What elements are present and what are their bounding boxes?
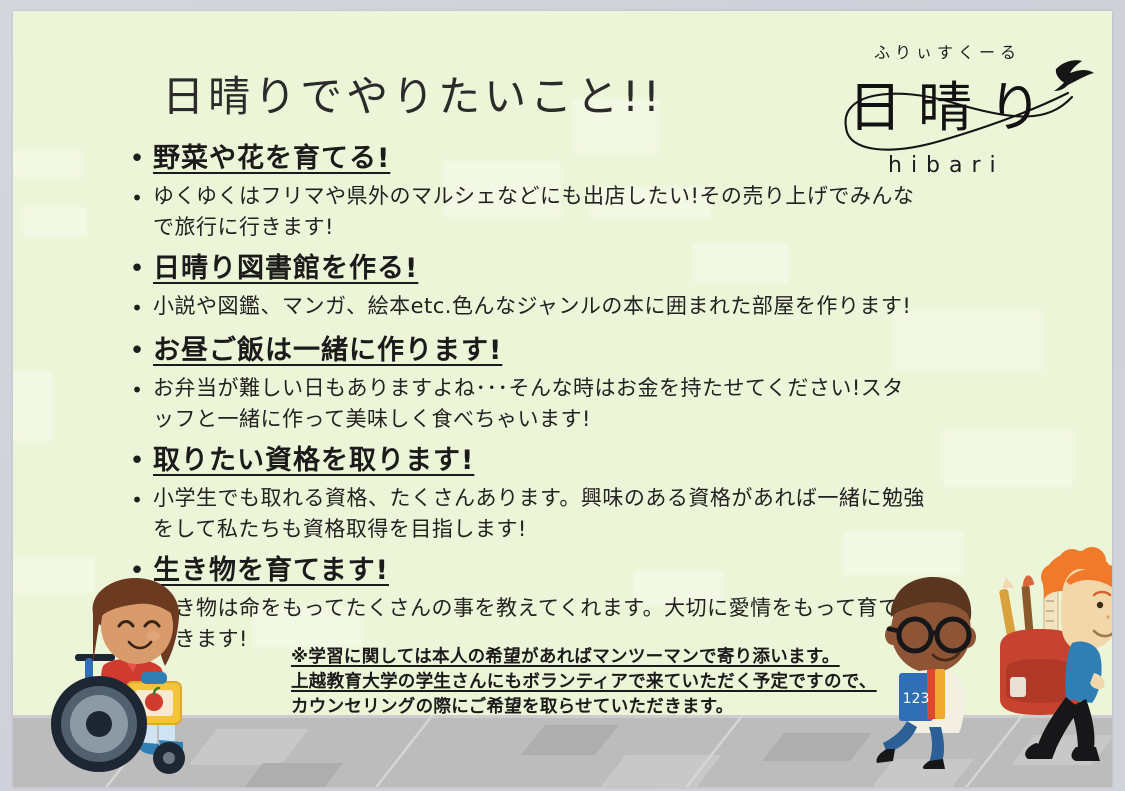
activity-heading-row: • 取りたい資格を取ります! xyxy=(121,441,1001,481)
list-item: • 取りたい資格を取ります! • 小学生でも取れる資格、たくさんあります。興味の… xyxy=(121,441,1001,545)
footer-note: ※学習に関しては本人の希望があればマンツーマンで寄り添います。 上越教育大学の学… xyxy=(291,645,877,720)
bullet-marker-icon: • xyxy=(121,331,153,371)
activity-detail: 小学生でも取れる資格、たくさんあります。興味のある資格があれば一緒に勉強をして私… xyxy=(153,483,925,545)
bullet-marker-icon: • xyxy=(121,483,153,517)
pavement-slab xyxy=(762,733,872,761)
activity-heading-row: • 日晴り図書館を作る! xyxy=(121,249,1001,289)
footer-note-line: ※学習に関しては本人の希望があればマンツーマンで寄り添います。 xyxy=(291,645,877,670)
activity-heading-row: • 生き物を育てます! xyxy=(121,551,1001,591)
footer-note-line: 上越教育大学の学生さんにもボランティアで来ていただく予定ですので、 xyxy=(291,670,877,695)
pavement-slab xyxy=(600,755,721,787)
slide-canvas: 日晴りでやりたいこと!! ふりぃすくーる 日晴り hibari • 野菜や花を育… xyxy=(0,0,1125,791)
activities-list: • 野菜や花を育てる! • ゆくゆくはフリマや県外のマルシェなどにも出店したい!… xyxy=(121,139,1001,661)
bullet-marker-icon: • xyxy=(121,441,153,481)
list-item: • 日晴り図書館を作る! • 小説や図鑑、マンガ、絵本etc.色んなジャンルの本… xyxy=(121,249,1001,325)
logo-name: 日晴り xyxy=(848,63,1058,142)
pavement-slab xyxy=(243,763,343,787)
bullet-marker-icon: • xyxy=(121,249,153,289)
boy-with-backpack-illustration xyxy=(988,547,1112,765)
slide-page: 日晴りでやりたいこと!! ふりぃすくーる 日晴り hibari • 野菜や花を育… xyxy=(13,11,1112,787)
list-item: • 生き物を育てます! • 生き物は命をもってたくさんの事を教えてくれます。大切… xyxy=(121,551,1001,655)
bullet-marker-icon: • xyxy=(121,181,153,215)
boy-with-glasses-illustration: 123 xyxy=(871,569,991,769)
pavement-line xyxy=(685,715,744,787)
list-item: • お昼ご飯は一緒に作ります! • お弁当が難しい日もありますよね･･･そんな時… xyxy=(121,331,1001,435)
activity-heading: お昼ご飯は一緒に作ります! xyxy=(153,331,502,371)
activity-detail-row: • 小学生でも取れる資格、たくさんあります。興味のある資格があれば一緒に勉強をし… xyxy=(121,483,1001,545)
background-patch xyxy=(13,371,53,441)
page-title: 日晴りでやりたいこと!! xyxy=(13,63,813,124)
activity-heading: 日晴り図書館を作る! xyxy=(153,249,418,289)
background-patch xyxy=(23,207,87,237)
activity-detail-row: • お弁当が難しい日もありますよね･･･そんな時はお金を持たせてください!スタッ… xyxy=(121,373,1001,435)
girl-in-wheelchair-illustration xyxy=(41,574,221,779)
activity-detail-row: • 小説や図鑑、マンガ、絵本etc.色んなジャンルの本に囲まれた部屋を作ります! xyxy=(121,291,1001,325)
svg-text:123: 123 xyxy=(903,691,930,707)
pavement-slab xyxy=(521,725,618,755)
activity-detail-row: • ゆくゆくはフリマや県外のマルシェなどにも出店したい!その売り上げでみんなで旅… xyxy=(121,181,1001,243)
bullet-marker-icon: • xyxy=(121,373,153,407)
activity-heading-row: • お昼ご飯は一緒に作ります! xyxy=(121,331,1001,371)
background-patch xyxy=(13,151,83,177)
activity-detail: 小説や図鑑、マンガ、絵本etc.色んなジャンルの本に囲まれた部屋を作ります! xyxy=(153,291,911,322)
activity-heading: 野菜や花を育てる! xyxy=(153,139,390,179)
bullet-marker-icon: • xyxy=(121,291,153,325)
bullet-marker-icon: • xyxy=(121,139,153,179)
activity-heading-row: • 野菜や花を育てる! xyxy=(121,139,1001,179)
pavement-line xyxy=(375,715,434,787)
list-item: • 野菜や花を育てる! • ゆくゆくはフリマや県外のマルシェなどにも出店したい!… xyxy=(121,139,1001,243)
activity-heading: 取りたい資格を取ります! xyxy=(153,441,474,481)
activity-detail: お弁当が難しい日もありますよね･･･そんな時はお金を持たせてください!スタッフと… xyxy=(153,373,925,435)
activity-detail: ゆくゆくはフリマや県外のマルシェなどにも出店したい!その売り上げでみんなで旅行に… xyxy=(153,181,925,243)
logo-subtitle: ふりぃすくーる xyxy=(874,39,1021,63)
